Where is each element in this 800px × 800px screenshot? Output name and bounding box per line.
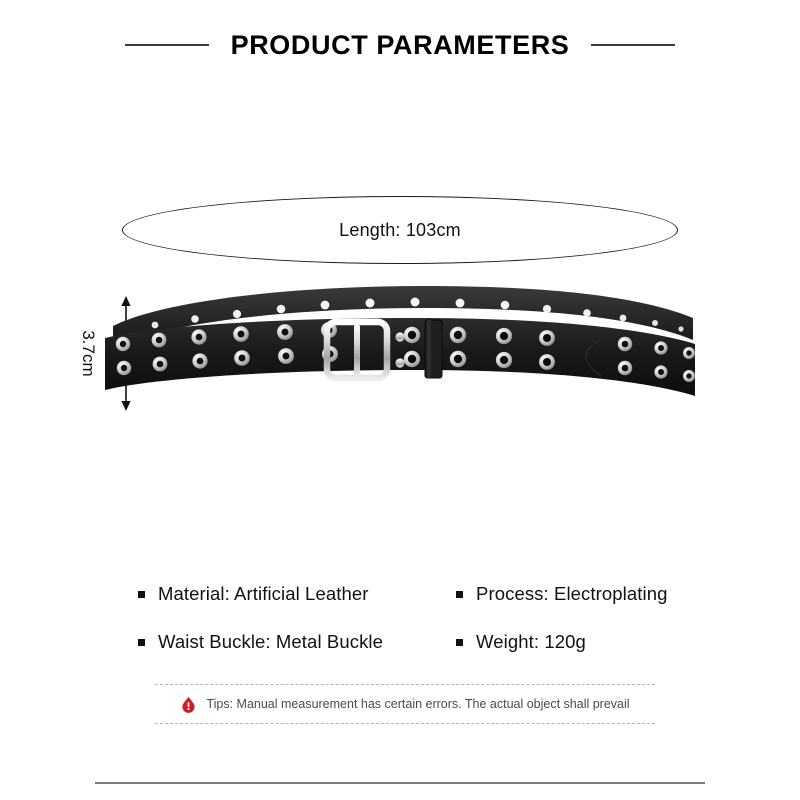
spec-material-label: Material: Artificial Leather [158, 583, 369, 605]
spec-process-label: Process: Electroplating [476, 583, 668, 605]
warning-icon [180, 696, 197, 713]
spec-waist-buckle-label: Waist Buckle: Metal Buckle [158, 631, 383, 653]
length-callout-label: Length: 103cm [122, 196, 678, 264]
length-callout: Length: 103cm [122, 196, 678, 264]
belt-keeper-loop [425, 320, 442, 378]
spec-process: Process: Electroplating [456, 583, 678, 605]
title-rule-right-icon [591, 44, 675, 46]
tips-row: Tips: Manual measurement has certain err… [155, 685, 655, 723]
belt-lower-strap [105, 318, 695, 396]
tips-text: Tips: Manual measurement has certain err… [206, 697, 629, 711]
title-rule-left-icon [125, 44, 209, 46]
bullet-square-icon [456, 591, 463, 598]
spec-list: Material: Artificial Leather Process: El… [138, 583, 678, 653]
tips-divider-bottom [155, 723, 655, 724]
bullet-square-icon [138, 591, 145, 598]
bullet-square-icon [456, 639, 463, 646]
bullet-square-icon [138, 639, 145, 646]
page-title: PRODUCT PARAMETERS [231, 30, 570, 61]
tips-section: Tips: Manual measurement has certain err… [155, 684, 655, 724]
spec-weight: Weight: 120g [456, 631, 678, 653]
spec-waist-buckle: Waist Buckle: Metal Buckle [138, 631, 456, 653]
spec-weight-label: Weight: 120g [476, 631, 586, 653]
belt-illustration-icon [95, 278, 705, 418]
product-image [95, 278, 705, 418]
footer-divider [95, 782, 705, 784]
spec-material: Material: Artificial Leather [138, 583, 456, 605]
page-header: PRODUCT PARAMETERS [0, 25, 800, 65]
